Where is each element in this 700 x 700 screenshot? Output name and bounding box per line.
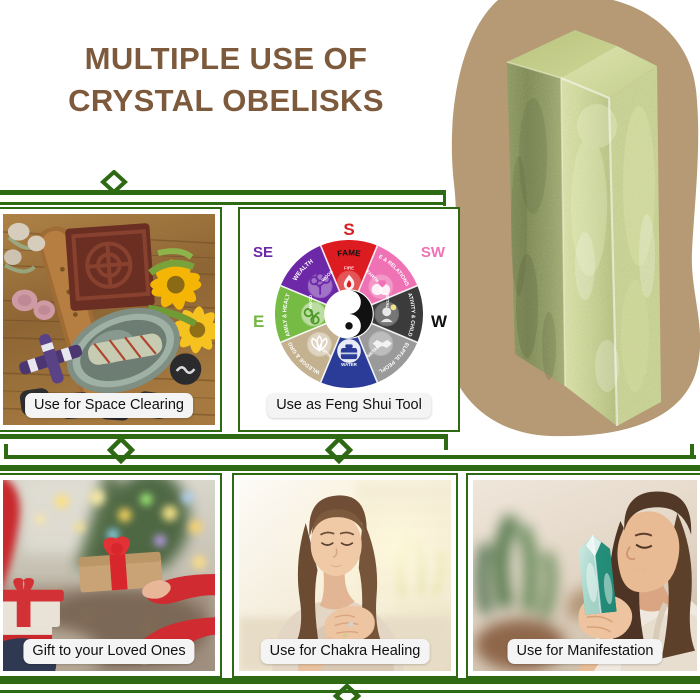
divider-line-top-thin [0, 202, 446, 205]
diamond-ornament-mid-left [104, 436, 138, 464]
divider-line-mid-upper [0, 434, 444, 439]
svg-text:FAME: FAME [337, 248, 362, 258]
caption-manifestation: Use for Manifestation [507, 639, 662, 664]
panel-space-clearing[interactable]: Use for Space Clearing [0, 207, 222, 432]
bagua-direction-w: W [431, 312, 447, 332]
poster-canvas: MULTIPLE USE OF CRYSTAL OBELISKS [0, 0, 700, 700]
svg-text:METAL: METAL [385, 293, 390, 308]
page-title-line-1: MULTIPLE USE OF [85, 41, 368, 76]
divider-tick-mid-left [4, 444, 8, 458]
crystal-obelisk-image [489, 6, 679, 436]
panel-manifestation[interactable]: Use for Manifestation [466, 473, 700, 678]
bagua-direction-s: S [343, 220, 354, 240]
caption-gift: Gift to your Loved Ones [23, 639, 194, 664]
bagua-wheel: FAME LOVE & RELATIONSHIPS CREATIVITY & C… [275, 240, 423, 388]
caption-chakra-healing: Use for Chakra Healing [261, 639, 430, 664]
page-title-line-2: CRYSTAL OBELISKS [0, 80, 452, 122]
diamond-ornament-bottom [330, 684, 364, 700]
bagua-direction-se: SE [253, 244, 273, 261]
yin-yang-icon [325, 290, 372, 337]
diamond-ornament-mid-right [322, 436, 356, 464]
divider-line-mid-lower [0, 465, 700, 471]
svg-text:WATER: WATER [341, 362, 357, 367]
bagua-direction-sw: SW [421, 244, 445, 261]
caption-feng-shui: Use as Feng Shui Tool [267, 393, 431, 418]
bagua-direction-e: E [253, 312, 264, 332]
diamond-ornament-top [98, 170, 130, 196]
panel-gift[interactable]: Gift to your Loved Ones [0, 473, 222, 678]
svg-text:FIRE: FIRE [344, 266, 354, 271]
divider-tick-mid-center [444, 434, 448, 450]
svg-text:WOOD: WOOD [308, 294, 313, 309]
caption-space-clearing: Use for Space Clearing [25, 393, 193, 418]
panel-feng-shui[interactable]: S SE SW E W [238, 207, 460, 432]
panel-chakra-healing[interactable]: Use for Chakra Healing [232, 473, 458, 678]
divider-tick-top-right [443, 190, 446, 206]
divider-tick-mid-right [690, 444, 694, 458]
divider-line-top [0, 190, 446, 195]
page-title: MULTIPLE USE OF CRYSTAL OBELISKS [0, 38, 452, 122]
